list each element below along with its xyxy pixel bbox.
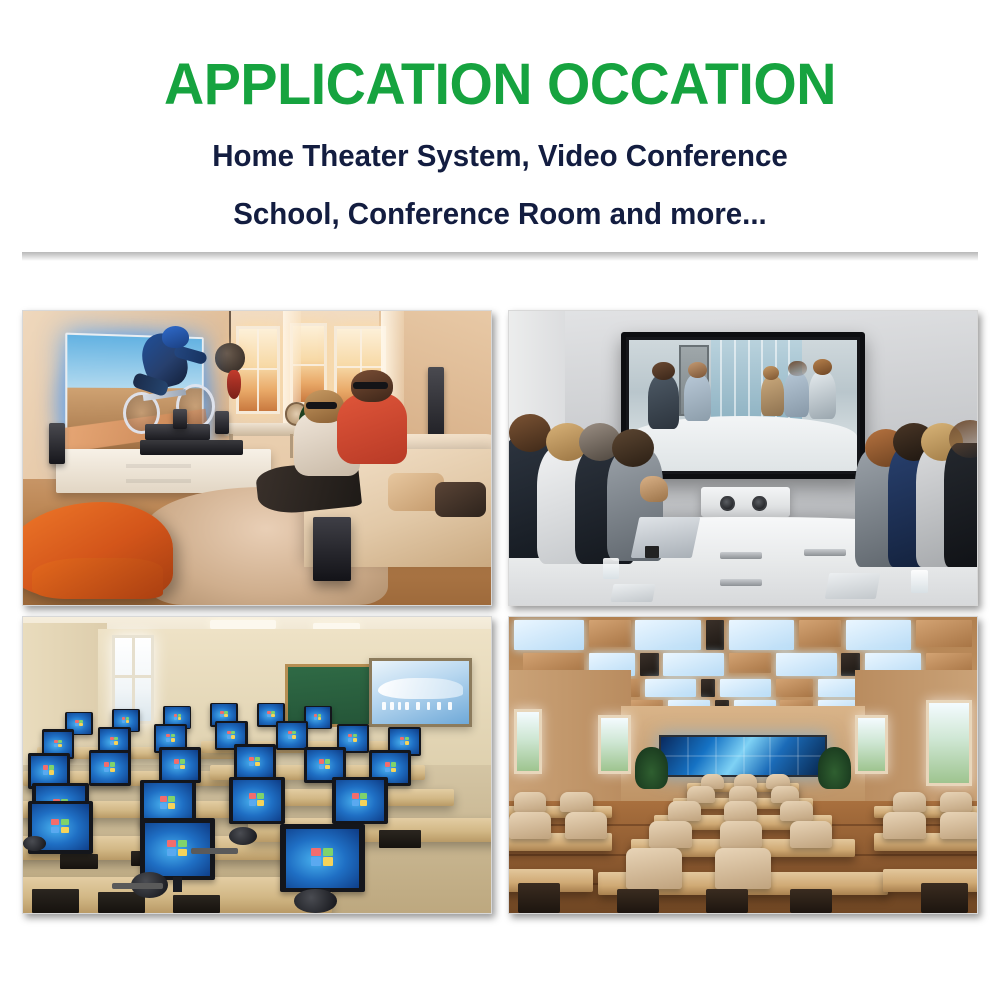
video-conference-scene xyxy=(509,311,977,605)
3d-glasses-icon xyxy=(306,402,336,409)
glass-icon xyxy=(603,558,619,579)
headphones-icon xyxy=(23,836,46,851)
window-icon xyxy=(514,709,542,774)
conference-display xyxy=(621,332,864,479)
subtitle-line-1: Home Theater System, Video Conference xyxy=(25,140,975,171)
tablet-icon xyxy=(610,584,655,602)
conference-hall-scene xyxy=(509,617,977,913)
conference-camera xyxy=(701,487,790,516)
subwoofer-icon xyxy=(313,517,350,582)
window-icon xyxy=(855,715,888,774)
monitor-icon xyxy=(234,744,276,780)
led-video-wall xyxy=(659,735,827,776)
photo-home-theater xyxy=(22,310,492,606)
speaker-icon xyxy=(49,423,65,464)
monitor-icon xyxy=(229,777,285,824)
subtitle-line-2: School, Conference Room and more... xyxy=(25,198,975,229)
tablet-icon xyxy=(825,573,881,599)
monitor-icon xyxy=(159,747,201,783)
window-icon xyxy=(236,326,280,414)
plant-icon xyxy=(818,747,851,788)
application-occation-banner: APPLICATION OCCATION Home Theater System… xyxy=(0,0,1000,1000)
microphone-icon xyxy=(720,579,762,586)
glass-icon xyxy=(911,570,927,594)
headphones-icon xyxy=(229,827,257,845)
monitor-icon xyxy=(280,824,364,892)
laptop-icon xyxy=(631,517,701,558)
interactive-whiteboard xyxy=(369,658,472,726)
microphone-icon xyxy=(804,549,846,556)
photo-conference-room xyxy=(508,616,978,914)
speaker-icon xyxy=(215,411,229,435)
monitor-icon xyxy=(332,777,388,824)
photo-video-conference xyxy=(508,310,978,606)
page-title: APPLICATION OCCATION xyxy=(20,56,980,114)
photo-school-computer-lab xyxy=(22,616,492,914)
home-theater-scene xyxy=(23,311,491,605)
monitor-icon xyxy=(89,750,131,786)
horizontal-rule xyxy=(22,252,978,261)
computer-lab-scene xyxy=(23,617,491,913)
monitor-icon xyxy=(276,721,309,751)
plant-icon xyxy=(635,747,668,788)
window-icon xyxy=(598,715,631,774)
header: APPLICATION OCCATION Home Theater System… xyxy=(0,0,1000,252)
3d-glasses-icon xyxy=(353,382,388,390)
speaker-icon xyxy=(173,409,187,428)
media-player-icon xyxy=(140,440,243,455)
headphones-icon xyxy=(294,889,336,913)
photo-grid xyxy=(22,310,978,914)
window-icon xyxy=(926,700,973,786)
microphone-icon xyxy=(720,552,762,559)
